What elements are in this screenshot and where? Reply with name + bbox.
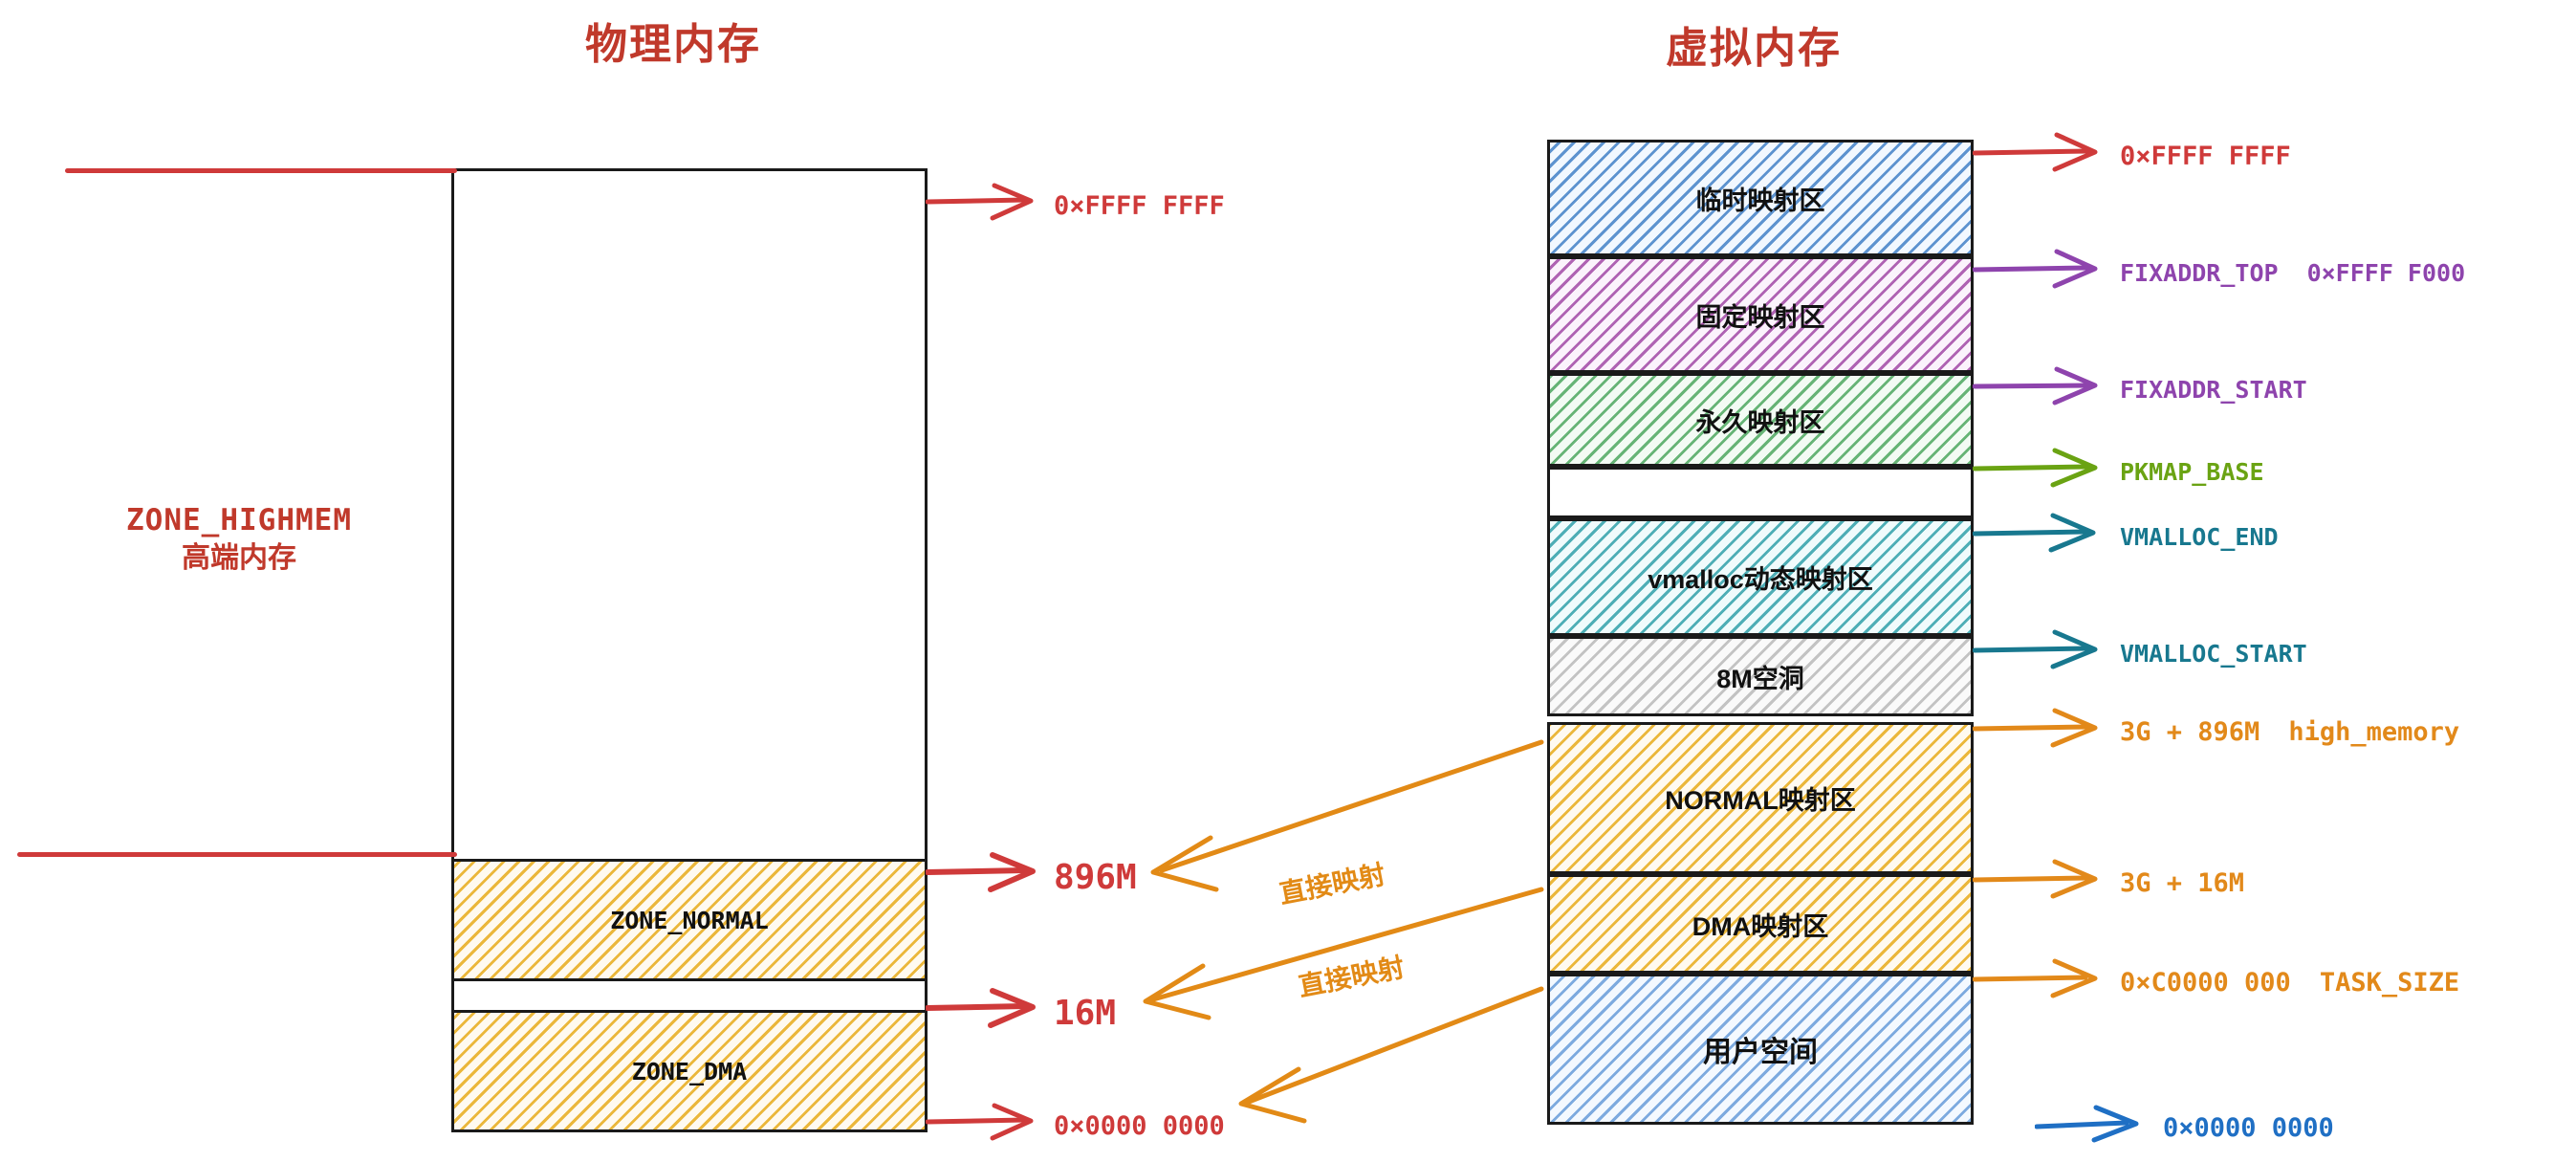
virtual-marker-3g-896m: 3G + 896M high_memory: [1973, 706, 2459, 756]
virtual-marker-zero: 0×0000 0000: [2035, 1102, 2334, 1152]
marker-label: 0×FFFF FFFF: [2120, 140, 2291, 171]
virtual-block-label: 8M空洞: [1716, 658, 1804, 695]
arrow-icon: [1973, 363, 2107, 413]
virtual-block-dma-map[interactable]: DMA映射区: [1547, 874, 1974, 974]
virtual-block-8m-hole[interactable]: 8M空洞: [1547, 636, 1974, 716]
physical-block-label: ZONE_NORMAL: [610, 907, 769, 934]
zone-highmem-cn: 高端内存: [57, 540, 421, 577]
physical-block-zone-dma[interactable]: ZONE_DMA: [451, 1010, 928, 1132]
diagram-canvas: 物理内存 虚拟内存 ZONE_HIGHMEM 高端内存 ZONE_NORMAL …: [0, 0, 2576, 1162]
marker-label: 896M: [1054, 856, 1137, 897]
marker-label: VMALLOC_END: [2120, 521, 2279, 551]
virtual-marker-fixaddr-top: FIXADDR_TOP 0×FFFF F000: [1973, 247, 2465, 296]
virtual-block-persistent-map[interactable]: 永久映射区: [1547, 373, 1974, 467]
physical-block-zone-normal[interactable]: ZONE_NORMAL: [451, 859, 928, 981]
virtual-block-label: NORMAL映射区: [1665, 779, 1855, 817]
physical-marker-16m: 16M: [926, 985, 1116, 1040]
physical-marker-zero: 0×0000 0000: [926, 1100, 1225, 1151]
arrow-icon: [1973, 627, 2107, 677]
virtual-block-fixed-map[interactable]: 固定映射区: [1547, 256, 1974, 373]
physical-marker-ffff: 0×FFFF FFFF: [926, 180, 1225, 230]
zone-highmem-label: ZONE_HIGHMEM 高端内存: [57, 502, 421, 577]
marker-label: 0×C0000 000: [2120, 966, 2291, 998]
marker-label: FIXADDR_START: [2120, 374, 2307, 404]
virtual-block-normal-map[interactable]: NORMAL映射区: [1547, 722, 1974, 874]
marker-label: 3G + 16M: [2120, 866, 2244, 898]
highmem-top-rule: [65, 168, 457, 173]
arrow-icon: [1973, 956, 2107, 1007]
arrow-icon: [1973, 706, 2107, 756]
virtual-block-label: 临时映射区: [1696, 180, 1825, 217]
virtual-marker-fixaddr-start: FIXADDR_START: [1973, 363, 2307, 413]
arrow-icon: [1973, 857, 2107, 908]
virtual-block-label: vmalloc动态映射区: [1648, 559, 1873, 596]
virtual-marker-vmalloc-start: VMALLOC_START: [1973, 627, 2307, 677]
arrow-icon: [926, 985, 1040, 1040]
virtual-block-label: DMA映射区: [1692, 906, 1829, 943]
arrow-icon: [1973, 247, 2107, 296]
arrow-icon: [926, 1100, 1040, 1151]
arrow-icon: [926, 180, 1040, 230]
physical-block-label: ZONE_DMA: [632, 1058, 747, 1085]
virtual-block-vmalloc[interactable]: vmalloc动态映射区: [1547, 518, 1974, 636]
virtual-memory-title: 虚拟内存: [1666, 13, 1842, 75]
virtual-marker-task-size: 0×C0000 000 TASK_SIZE: [1973, 956, 2459, 1007]
marker-label-secondary: high_memory: [2288, 715, 2459, 747]
virtual-block-user-space[interactable]: 用户空间: [1547, 974, 1974, 1125]
virtual-block-gap: [1547, 467, 1974, 518]
marker-label-secondary: 0×FFFF F000: [2307, 257, 2466, 287]
virtual-marker-vmalloc-end: VMALLOC_END: [1973, 511, 2279, 560]
marker-label: 3G + 896M: [2120, 715, 2259, 747]
marker-label-secondary: TASK_SIZE: [2320, 966, 2459, 998]
highmem-bottom-rule: [17, 852, 457, 857]
marker-label: PKMAP_BASE: [2120, 456, 2264, 486]
marker-label: 0×0000 0000: [1054, 1109, 1225, 1141]
marker-label: 0×0000 0000: [2163, 1111, 2334, 1143]
marker-label: FIXADDR_TOP: [2120, 257, 2279, 287]
marker-label: 16M: [1054, 992, 1116, 1033]
zone-highmem-code: ZONE_HIGHMEM: [57, 502, 421, 540]
physical-marker-896m: 896M: [926, 849, 1137, 904]
virtual-marker-3g-16m: 3G + 16M: [1973, 857, 2244, 908]
direct-mapping-label-1: 直接映射: [1276, 854, 1388, 912]
virtual-block-label: 固定映射区: [1696, 296, 1825, 334]
marker-label: 0×FFFF FFFF: [1054, 189, 1225, 221]
arrow-icon: [2035, 1102, 2150, 1152]
arrow-icon: [926, 849, 1040, 904]
virtual-block-temp-map[interactable]: 临时映射区: [1547, 140, 1974, 256]
marker-label: VMALLOC_START: [2120, 638, 2307, 668]
virtual-marker-pkmap-base: PKMAP_BASE: [1973, 446, 2264, 495]
virtual-marker-ffff-ffff: 0×FFFF FFFF: [1973, 130, 2291, 181]
physical-memory-title: 物理内存: [585, 10, 761, 71]
arrow-icon: [1973, 446, 2107, 495]
virtual-block-label: 用户空间: [1703, 1028, 1818, 1070]
physical-memory-frame: [451, 168, 928, 1132]
arrow-icon: [1973, 130, 2107, 181]
arrow-icon: [1973, 511, 2107, 560]
virtual-block-label: 永久映射区: [1696, 402, 1825, 439]
direct-mapping-label-2: 直接映射: [1295, 947, 1408, 1005]
